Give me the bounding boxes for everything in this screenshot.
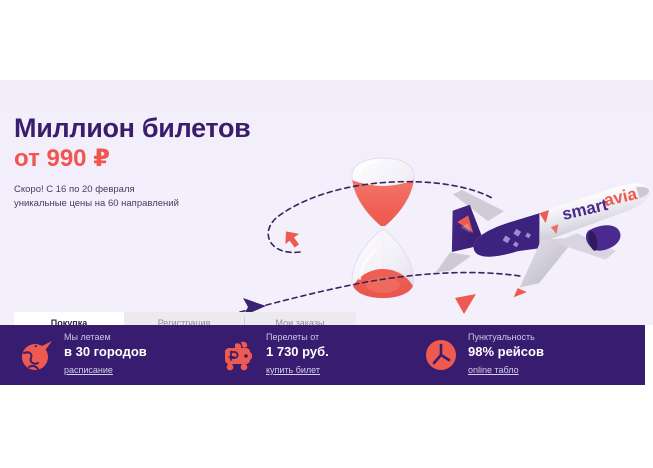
airplane-livery-smart: smart	[560, 195, 610, 224]
feature-punctuality-top: Пунктуальность	[468, 333, 544, 342]
hero-banner: smart avia Миллион билетов от 990 ₽ Скор…	[0, 80, 653, 325]
hero-subtitle: Скоро! С 16 по 20 февраля уникальные цен…	[14, 183, 314, 210]
feature-punctuality: Пунктуальность 98% рейсов online табло	[424, 325, 624, 385]
clock-icon	[424, 338, 458, 372]
feature-price-text: Перелеты от 1 730 руб. купить билет	[266, 333, 329, 377]
bottom-white-area	[0, 385, 653, 468]
dashed-path-lower	[240, 273, 520, 312]
tab-purchase[interactable]: Покупка	[14, 312, 124, 325]
feature-destinations-main: в 30 городов	[64, 345, 147, 358]
hero-price: от 990 ₽	[14, 145, 314, 173]
airplane-livery-avia: avia	[602, 184, 639, 210]
arrow-head-coral-left	[282, 228, 302, 250]
booking-widget: Покупка Регистрация Мои заказы Откуда Ку…	[14, 312, 570, 325]
tab-my-orders-label: Мои заказы	[276, 318, 325, 325]
smartavia-landing-page: smart avia Миллион билетов от 990 ₽ Скор…	[0, 0, 653, 468]
hero-title: Миллион билетов	[14, 113, 314, 143]
tab-purchase-label: Покупка	[51, 318, 87, 325]
arrow-head-coral-right	[455, 294, 476, 314]
feature-price: Перелеты от 1 730 руб. купить билет	[222, 325, 412, 385]
feature-list: Мы летаем в 30 городов расписание	[0, 325, 645, 385]
booking-tabs: Покупка Регистрация Мои заказы	[14, 312, 356, 325]
feature-bar: Мы летаем в 30 городов расписание	[0, 325, 645, 385]
feature-destinations-text: Мы летаем в 30 городов расписание	[64, 333, 147, 377]
tab-registration-label: Регистрация	[158, 318, 211, 325]
globe-airplane-icon	[20, 338, 54, 372]
feature-destinations-link[interactable]: расписание	[64, 366, 113, 375]
top-white-strip	[0, 0, 653, 80]
hero-subtitle-line1: Скоро! С 16 по 20 февраля	[14, 183, 314, 197]
feature-price-link[interactable]: купить билет	[266, 366, 320, 375]
feature-punctuality-text: Пунктуальность 98% рейсов online табло	[468, 333, 544, 377]
hero-copy: Миллион билетов от 990 ₽ Скоро! С 16 по …	[14, 113, 314, 210]
feature-price-top: Перелеты от	[266, 333, 329, 342]
tab-divider	[244, 317, 245, 325]
hero-subtitle-line2: уникальные цены на 60 направлений	[14, 197, 314, 211]
hourglass-illustration	[352, 158, 414, 300]
feature-punctuality-link[interactable]: online табло	[468, 366, 519, 375]
feature-punctuality-main: 98% рейсов	[468, 345, 544, 358]
wallet-ruble-icon	[222, 338, 256, 372]
feature-price-main: 1 730 руб.	[266, 345, 329, 358]
smartavia-airplane: smart avia	[419, 149, 653, 313]
tab-my-orders[interactable]: Мои заказы	[244, 312, 356, 325]
feature-destinations-top: Мы летаем	[64, 333, 147, 342]
tab-registration[interactable]: Регистрация	[124, 312, 244, 325]
feature-destinations: Мы летаем в 30 городов расписание	[20, 325, 210, 385]
